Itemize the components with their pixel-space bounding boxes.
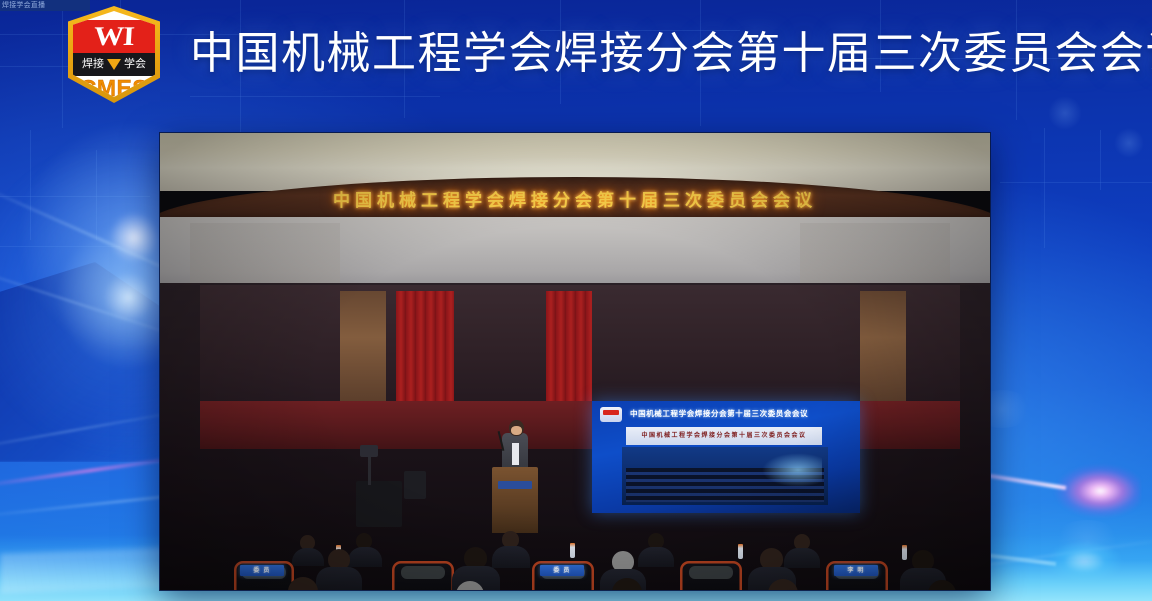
name-plate-text: 委 员 (253, 568, 270, 574)
projection-screen: 中国机械工程学会焊接分会第十届三次委员会会议 中国机械工程学会焊接分会第十届三次… (592, 401, 860, 513)
equipment-case (404, 471, 426, 499)
broadcast-corner-strip: 焊接学会直播 (0, 0, 90, 11)
logo-cn-right: 学会 (124, 59, 146, 70)
cmes-logo: WI 焊接 学会 CMES (68, 6, 160, 103)
led-banner-text: 中国机械工程学会焊接分会第十届三次委员会会议 (333, 192, 817, 209)
screen-inner-glow (762, 453, 822, 487)
speaker-cabinet (356, 481, 402, 527)
stage-curtain-left (396, 291, 454, 409)
triangle-icon (107, 59, 121, 70)
screen-inner-photo (622, 447, 828, 505)
attendee-head (288, 577, 318, 590)
slide-header: WI 焊接 学会 CMES 中国机械工程学会焊接分会第十届三次委员会会议 (0, 0, 1152, 118)
audience-row-2: 王 强 田 洪 玉 张 伟 刘 建 (160, 575, 990, 590)
speaker-face (511, 426, 522, 435)
attendee-head (456, 581, 484, 590)
podium (492, 467, 538, 533)
screen-title: 中国机械工程学会焊接分会第十届三次委员会会议 (630, 408, 852, 420)
lamp-glow-2 (1114, 128, 1144, 158)
logo-red-band: WI (73, 20, 155, 53)
ceiling-light-glow (220, 133, 920, 183)
screen-logo-icon (600, 407, 622, 422)
broadcast-corner-caption: 焊接学会直播 (0, 0, 45, 11)
conference-hall-photo: 中国机械工程学会焊接分会第十届三次委员会会议 中国机械工程学会焊接分会第十届三次… (160, 133, 990, 590)
attendee-head (928, 580, 956, 590)
stage-curtain-right (546, 291, 592, 409)
logo-cn-left: 焊接 (82, 59, 104, 70)
tripod-leg (368, 455, 371, 485)
speaker-shirt (512, 443, 519, 465)
wood-column-left (340, 291, 386, 407)
screen-subtitle-bar: 中国机械工程学会焊接分会第十届三次委员会会议 (626, 427, 822, 445)
name-plate-text: 李 明 (847, 568, 864, 574)
logo-initials: WI (93, 23, 134, 50)
attendee-head (612, 578, 642, 590)
name-plate-text: 委 员 (553, 568, 570, 574)
wood-column-right (860, 291, 906, 407)
video-camera-icon (360, 445, 378, 457)
page-title: 中国机械工程学会焊接分会第十届三次委员会会议 (190, 23, 1152, 85)
attendee-head (768, 579, 798, 590)
logo-dark-band: 焊接 学会 (73, 53, 155, 76)
screen-subtitle: 中国机械工程学会焊接分会第十届三次委员会会议 (641, 433, 806, 439)
podium-plate (498, 481, 532, 489)
slide-canvas: 焊接学会直播 WI 焊接 学会 CMES 中国机械工程学会焊接分会第十届三次委员… (0, 0, 1152, 601)
bokeh-right-2 (1052, 520, 1122, 564)
